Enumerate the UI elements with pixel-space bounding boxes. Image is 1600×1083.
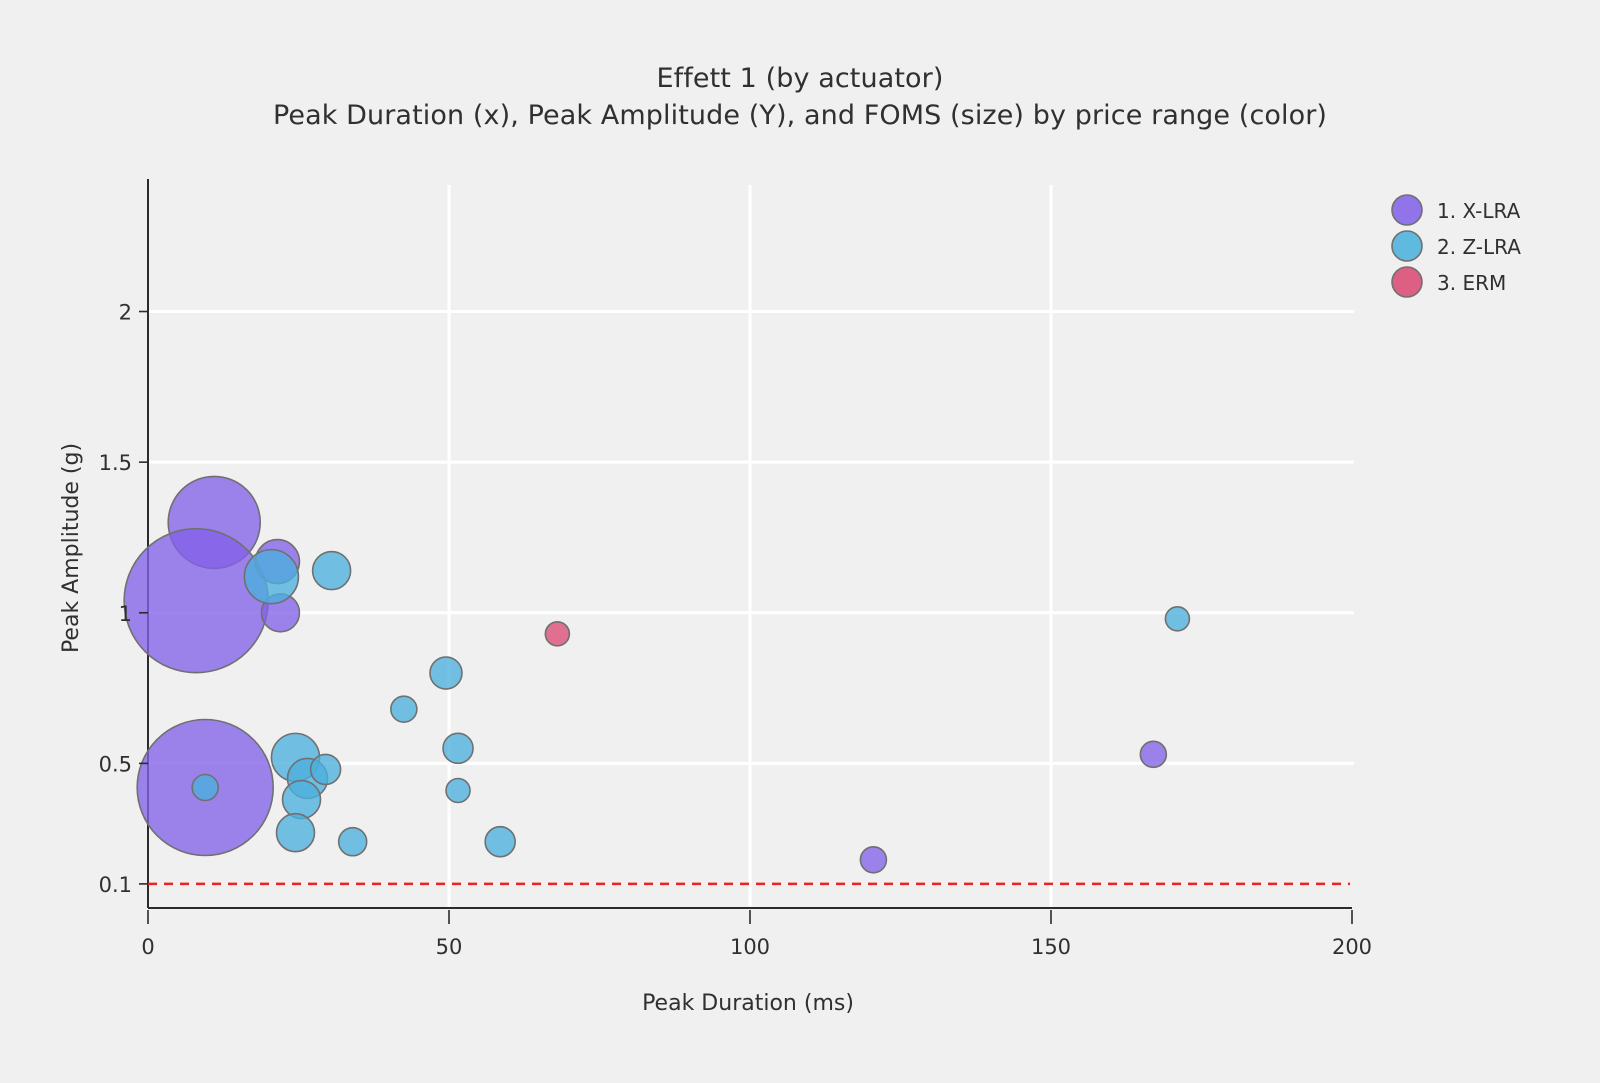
scatter-point: [311, 754, 341, 784]
x-tick-label: 200: [1332, 935, 1372, 959]
legend: 1. X-LRA2. Z-LRA3. ERM: [1392, 195, 1521, 297]
scatter-point: [430, 657, 462, 689]
legend-swatch[interactable]: [1392, 195, 1422, 225]
scatter-point: [192, 775, 218, 801]
chart-figure: Effett 1 (by actuator) Peak Duration (x)…: [0, 0, 1600, 1083]
data-markers: [124, 476, 1189, 872]
legend-swatch[interactable]: [1392, 231, 1422, 261]
y-tick-label: 1: [119, 602, 132, 626]
scatter-point: [485, 827, 515, 857]
scatter-point: [276, 814, 314, 852]
scatter-point: [391, 696, 417, 722]
scatter-point: [313, 552, 351, 590]
y-tick-label: 1.5: [99, 451, 132, 475]
scatter-point: [124, 529, 268, 673]
legend-label[interactable]: 1. X-LRA: [1437, 199, 1521, 223]
scatter-point: [339, 828, 367, 856]
scatter-point: [283, 781, 321, 819]
y-tick-label: 2: [119, 301, 132, 325]
legend-swatch[interactable]: [1392, 267, 1422, 297]
x-axis-label: Peak Duration (ms): [642, 991, 854, 1016]
gridlines: [148, 185, 1354, 908]
scatter-point: [1165, 607, 1189, 631]
scatter-point: [1140, 741, 1166, 767]
scatter-point: [443, 733, 473, 763]
scatter-point: [244, 550, 298, 604]
legend-label[interactable]: 3. ERM: [1437, 271, 1506, 295]
y-tick-label: 0.5: [99, 752, 132, 776]
y-tick-label: 0.1: [99, 873, 132, 897]
scatter-plot: 0.10.511.52050100150200 1. X-LRA2. Z-LRA…: [0, 0, 1600, 1083]
scatter-point: [446, 779, 470, 803]
x-tick-label: 150: [1031, 935, 1071, 959]
x-tick-label: 50: [436, 935, 463, 959]
x-tick-label: 100: [730, 935, 770, 959]
y-axis-label: Peak Amplitude (g): [59, 443, 84, 653]
legend-label[interactable]: 2. Z-LRA: [1437, 235, 1521, 259]
scatter-point: [545, 622, 569, 646]
scatter-point: [860, 847, 886, 873]
x-tick-label: 0: [141, 935, 154, 959]
